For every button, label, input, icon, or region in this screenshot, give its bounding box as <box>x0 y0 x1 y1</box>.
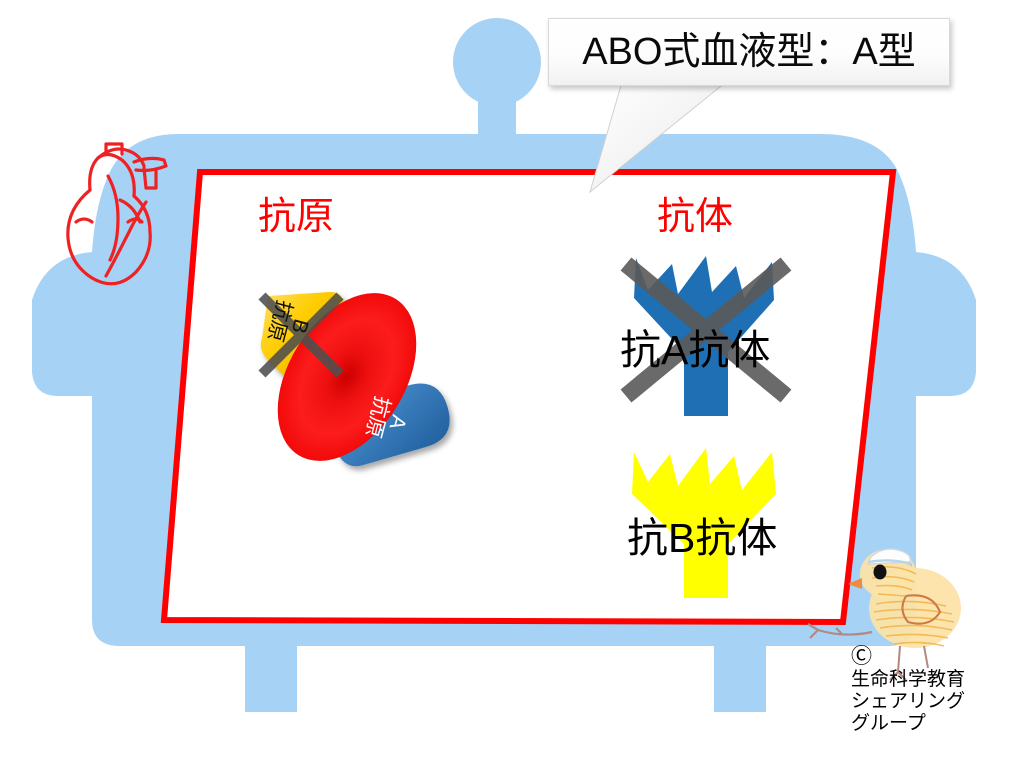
diagram-canvas: 抗原 抗体 <box>0 0 1011 757</box>
title-callout: ABO式血液型：A型 <box>548 18 950 86</box>
title-callout-text: ABO式血液型：A型 <box>582 33 916 71</box>
callout-tail-shape <box>590 82 726 192</box>
callout-tail <box>0 0 1011 757</box>
